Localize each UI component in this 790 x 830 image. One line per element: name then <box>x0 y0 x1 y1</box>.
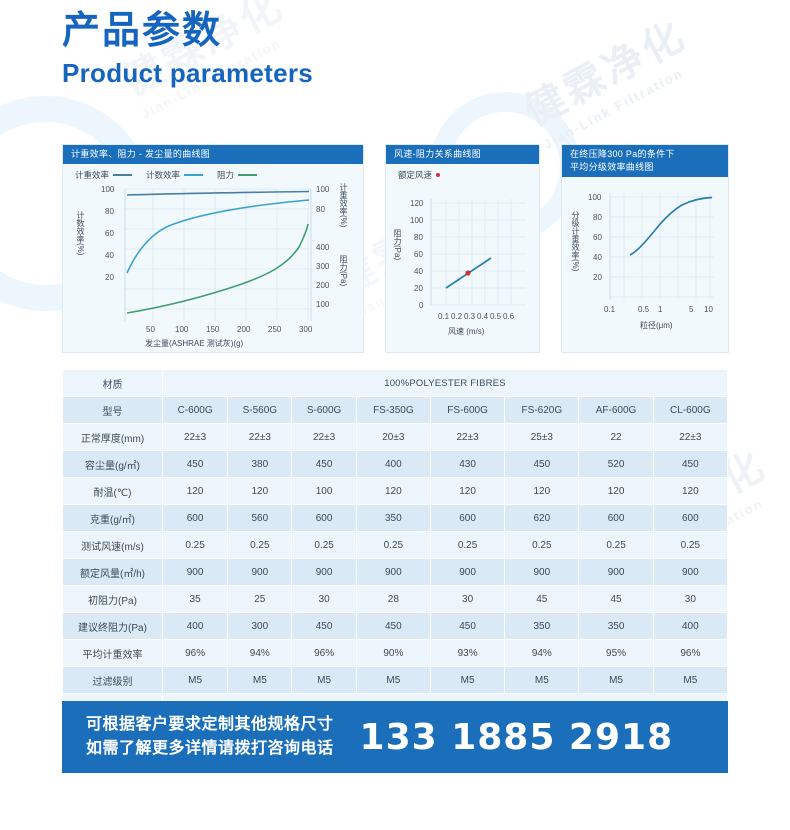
chart3-title: 在终压降300 Pa的条件下 平均分级效率曲线图 <box>562 145 728 177</box>
table-cell: 120 <box>505 478 579 505</box>
cell-material-value: 100%POLYESTER FIBRES <box>163 370 728 397</box>
table-cell: 450 <box>653 451 727 478</box>
chart1-xlabel: 发尘量(ASHRAE 测试灰)(g) <box>145 338 243 349</box>
table-cell: 0.25 <box>228 532 292 559</box>
table-cell: 0.25 <box>292 532 356 559</box>
row-label: 克重(g/㎡) <box>63 505 163 532</box>
table-row-model: 型号 C-600G S-560G S-600G FS-350G FS-600G … <box>63 397 728 424</box>
table-cell: 600 <box>579 505 653 532</box>
chart2-ytick: 20 <box>414 284 423 293</box>
legend-item-gravimetric: 计重效率 <box>75 169 132 181</box>
table-cell: 900 <box>228 559 292 586</box>
table-cell: 45 <box>579 586 653 613</box>
chart2-ytick: 0 <box>419 301 423 310</box>
chart1-ytick-right-bottom: 100 <box>316 300 329 309</box>
column-header-0: C-600G <box>163 397 228 424</box>
chart3-ytick: 80 <box>593 213 602 222</box>
column-header-3: FS-350G <box>356 397 430 424</box>
contact-phone-number[interactable]: 133 1885 2918 <box>360 717 674 758</box>
table-cell: 450 <box>163 451 228 478</box>
table-cell: 620 <box>505 505 579 532</box>
table-cell: 25±3 <box>505 424 579 451</box>
chart3-xtick: 10 <box>704 305 713 314</box>
chart1-title: 计重效率、阻力 - 发尘量的曲线图 <box>63 145 363 164</box>
table-cell: 96% <box>653 640 727 667</box>
chart2-xlabel: 风速 (m/s) <box>448 326 484 337</box>
table-cell: 450 <box>292 451 356 478</box>
row-label: 过滤级别 <box>63 667 163 694</box>
table-row: 建议终阻力(Pa) 400 300 450 450 450 350 350 40… <box>63 613 728 640</box>
legend-item-counting: 计数效率 <box>146 169 203 181</box>
column-header-1: S-560G <box>228 397 292 424</box>
table-cell: M5 <box>228 667 292 694</box>
legend-label: 计数效率 <box>146 169 180 181</box>
table-cell: 30 <box>653 586 727 613</box>
table-cell: 0.25 <box>163 532 228 559</box>
table-cell: M5 <box>505 667 579 694</box>
table-cell: 900 <box>653 559 727 586</box>
table-cell: 94% <box>228 640 292 667</box>
table-row: 正常厚度(mm) 22±3 22±3 22±3 20±3 22±3 25±3 2… <box>63 424 728 451</box>
table-cell: 600 <box>163 505 228 532</box>
chart2-xtick: 0.2 <box>451 312 462 321</box>
legend-label: 阻力 <box>217 169 234 181</box>
table-cell: 450 <box>430 613 504 640</box>
table-cell: 0.25 <box>356 532 430 559</box>
table-cell: 93% <box>430 640 504 667</box>
chart3-xtick: 1 <box>658 305 662 314</box>
table-cell: 22±3 <box>430 424 504 451</box>
column-header-4: FS-600G <box>430 397 504 424</box>
table-row: 耐温(℃) 120 120 100 120 120 120 120 120 <box>63 478 728 505</box>
table-cell: 22±3 <box>228 424 292 451</box>
table-cell: 96% <box>163 640 228 667</box>
chart1-ytick-left: 40 <box>105 251 114 260</box>
table-cell: 300 <box>228 613 292 640</box>
table-cell: 600 <box>653 505 727 532</box>
table-cell: 450 <box>505 451 579 478</box>
table-cell: 120 <box>228 478 292 505</box>
chart1-legend: 计重效率 计数效率 阻力 <box>63 164 363 181</box>
chart1-ytick-right-bottom: 300 <box>316 262 329 271</box>
chart1-ytick-left: 20 <box>105 273 114 282</box>
table-cell: 350 <box>579 613 653 640</box>
table-cell: 400 <box>356 451 430 478</box>
table-row: 容尘量(g/㎡) 450 380 450 400 430 450 520 450 <box>63 451 728 478</box>
table-row: 克重(g/㎡) 600 560 600 350 600 620 600 600 <box>63 505 728 532</box>
table-row-material: 材质 100%POLYESTER FIBRES <box>63 370 728 397</box>
row-label: 测试风速(m/s) <box>63 532 163 559</box>
table-cell: 400 <box>653 613 727 640</box>
specification-table: 材质 100%POLYESTER FIBRES 型号 C-600G S-560G… <box>62 369 728 721</box>
table-cell: 28 <box>356 586 430 613</box>
watermark-en: Jian-Link Filtration <box>541 56 703 152</box>
table-cell: 120 <box>163 478 228 505</box>
table-cell: 120 <box>579 478 653 505</box>
table-row: 平均计重效率 96% 94% 96% 90% 93% 94% 95% 96% <box>63 640 728 667</box>
table-cell: 400 <box>163 613 228 640</box>
row-label: 容尘量(g/㎡) <box>63 451 163 478</box>
chart1-ytick-left: 100 <box>101 185 114 194</box>
table-cell: 120 <box>430 478 504 505</box>
chart1-xtick: 50 <box>146 325 155 334</box>
contact-message-line1: 可根据客户要求定制其他规格尺寸 <box>86 713 334 737</box>
chart3-xlabel: 粒径(μm) <box>640 320 673 331</box>
chart3-ytick: 100 <box>588 193 601 202</box>
column-header-2: S-600G <box>292 397 356 424</box>
table-cell: M5 <box>356 667 430 694</box>
chart3-ytick: 60 <box>593 233 602 242</box>
row-label-model: 型号 <box>63 397 163 424</box>
chart2-xtick: 0.1 <box>438 312 449 321</box>
table-cell: M5 <box>579 667 653 694</box>
chart2-legend: 额定风速 <box>386 164 539 181</box>
legend-swatch-icon <box>238 174 257 176</box>
chart2-ytick: 100 <box>410 216 423 225</box>
table-cell: 450 <box>356 613 430 640</box>
row-label-material: 材质 <box>63 370 163 397</box>
table-cell: 95% <box>579 640 653 667</box>
chart2-ytick: 60 <box>414 250 423 259</box>
legend-swatch-icon <box>184 174 203 176</box>
table-cell: 900 <box>430 559 504 586</box>
table-cell: 20±3 <box>356 424 430 451</box>
table-cell: 100 <box>292 478 356 505</box>
table-cell: M5 <box>430 667 504 694</box>
table-row: 初阻力(Pa) 35 25 30 28 30 45 45 30 <box>63 586 728 613</box>
table-cell: 430 <box>430 451 504 478</box>
chart2-xtick: 0.4 <box>477 312 488 321</box>
table-cell: 0.25 <box>505 532 579 559</box>
chart2-xtick: 0.3 <box>464 312 475 321</box>
chart3-ytick: 20 <box>593 273 602 282</box>
table-cell: M5 <box>653 667 727 694</box>
page-title-cn: 产品参数 <box>62 8 313 56</box>
legend-label: 计重效率 <box>75 169 109 181</box>
table-cell: 600 <box>292 505 356 532</box>
row-label: 平均计重效率 <box>63 640 163 667</box>
table-cell: 0.25 <box>579 532 653 559</box>
chart1-ytick-right-bottom: 200 <box>316 281 329 290</box>
table-cell: 22±3 <box>653 424 727 451</box>
chart3-xtick: 0.1 <box>604 305 615 314</box>
column-header-6: AF-600G <box>579 397 653 424</box>
page-title-en: Product parameters <box>62 58 313 89</box>
chart1-xtick: 100 <box>175 325 188 334</box>
chart1-ylabel-right-bottom: 阻力(Pa) <box>338 255 349 286</box>
table-cell: 90% <box>356 640 430 667</box>
page-title: 产品参数 Product parameters <box>62 8 313 89</box>
chart3-ytick: 40 <box>593 253 602 262</box>
table-cell: 450 <box>292 613 356 640</box>
table-cell: 380 <box>228 451 292 478</box>
chart1-ytick-right-bottom: 400 <box>316 243 329 252</box>
table-cell: M5 <box>292 667 356 694</box>
legend-item-rated-velocity: 额定风速 <box>398 169 440 181</box>
row-label: 额定风量(㎡/h) <box>63 559 163 586</box>
chart1-xtick: 200 <box>237 325 250 334</box>
contact-message-line2: 如需了解更多详情请拨打咨询电话 <box>86 737 334 761</box>
chart-panel-velocity-resistance: 风速-阻力关系曲线图 额定风速 <box>385 144 540 353</box>
contact-message: 可根据客户要求定制其他规格尺寸 如需了解更多详情请拨打咨询电话 <box>86 713 334 761</box>
table-cell: 0.25 <box>430 532 504 559</box>
chart2-xtick: 0.5 <box>490 312 501 321</box>
table-cell: 22±3 <box>163 424 228 451</box>
chart1-ylabel-right-top: 计重效率(%) <box>338 183 349 227</box>
table-cell: 520 <box>579 451 653 478</box>
chart1-ytick-right-top: 80 <box>316 205 325 214</box>
chart1-xtick: 150 <box>206 325 219 334</box>
product-parameters-page: 健霖净化 Jian-Link Filtration 健霖净化 Jian-Link… <box>0 0 790 830</box>
row-label: 耐温(℃) <box>63 478 163 505</box>
table-cell: 900 <box>292 559 356 586</box>
chart2-xtick: 0.6 <box>503 312 514 321</box>
table-cell: 96% <box>292 640 356 667</box>
chart2-ylabel: 阻力(Pa) <box>392 229 403 260</box>
chart3-xtick: 0.5 <box>638 305 649 314</box>
legend-label: 额定风速 <box>398 169 432 181</box>
table-cell: 900 <box>579 559 653 586</box>
table-cell: 35 <box>163 586 228 613</box>
table-cell: 94% <box>505 640 579 667</box>
watermark-cn: 健霖净化 <box>518 13 694 134</box>
chart2-ytick: 40 <box>414 267 423 276</box>
chart2-title: 风速-阻力关系曲线图 <box>386 145 539 164</box>
chart1-ytick-left: 80 <box>105 207 114 216</box>
legend-item-resistance: 阻力 <box>217 169 257 181</box>
table-cell: 350 <box>505 613 579 640</box>
table-cell: 900 <box>356 559 430 586</box>
chart3-title-line2: 平均分级效率曲线图 <box>570 161 720 174</box>
column-header-5: FS-620G <box>505 397 579 424</box>
table-cell: 22 <box>579 424 653 451</box>
table-cell: 22±3 <box>292 424 356 451</box>
chart1-xtick: 300 <box>299 325 312 334</box>
table-row: 过滤级别 M5 M5 M5 M5 M5 M5 M5 M5 <box>63 667 728 694</box>
row-label: 正常厚度(mm) <box>63 424 163 451</box>
table-cell: 350 <box>356 505 430 532</box>
chart3-xtick: 5 <box>689 305 693 314</box>
chart-panel-efficiency-resistance: 计重效率、阻力 - 发尘量的曲线图 计重效率 计数效率 阻力 <box>62 144 364 353</box>
table-cell: 900 <box>163 559 228 586</box>
legend-swatch-icon <box>113 174 132 176</box>
table-cell: 120 <box>653 478 727 505</box>
row-label: 建议终阻力(Pa) <box>63 613 163 640</box>
watermark: 健霖净化 Jian-Link Filtration <box>513 3 704 152</box>
table-cell: 600 <box>430 505 504 532</box>
chart1-ytick-right-top: 100 <box>316 185 329 194</box>
table-cell: 900 <box>505 559 579 586</box>
row-label: 初阻力(Pa) <box>63 586 163 613</box>
chart1-ylabel-left: 计数效率(%) <box>75 211 86 255</box>
table-cell: 30 <box>430 586 504 613</box>
table-cell: 45 <box>505 586 579 613</box>
table-cell: 120 <box>356 478 430 505</box>
table-row: 测试风速(m/s) 0.25 0.25 0.25 0.25 0.25 0.25 … <box>63 532 728 559</box>
chart2-ytick: 120 <box>410 199 423 208</box>
chart1-xtick: 250 <box>268 325 281 334</box>
table-row: 额定风量(㎡/h) 900 900 900 900 900 900 900 90… <box>63 559 728 586</box>
table-cell: 25 <box>228 586 292 613</box>
chart2-ytick: 80 <box>414 233 423 242</box>
contact-banner: 可根据客户要求定制其他规格尺寸 如需了解更多详情请拨打咨询电话 133 1885… <box>62 701 728 773</box>
chart3-title-line1: 在终压降300 Pa的条件下 <box>570 148 720 161</box>
table-cell: 560 <box>228 505 292 532</box>
chart-panel-fractional-efficiency: 在终压降300 Pa的条件下 平均分级效率曲线图 <box>561 144 729 353</box>
chart1-ytick-left: 60 <box>105 229 114 238</box>
chart3-ylabel: 分级计重效率(%) <box>570 211 581 271</box>
legend-dot-icon <box>436 173 440 177</box>
table-cell: M5 <box>163 667 228 694</box>
column-header-7: CL-600G <box>653 397 727 424</box>
table-cell: 0.25 <box>653 532 727 559</box>
table-cell: 30 <box>292 586 356 613</box>
